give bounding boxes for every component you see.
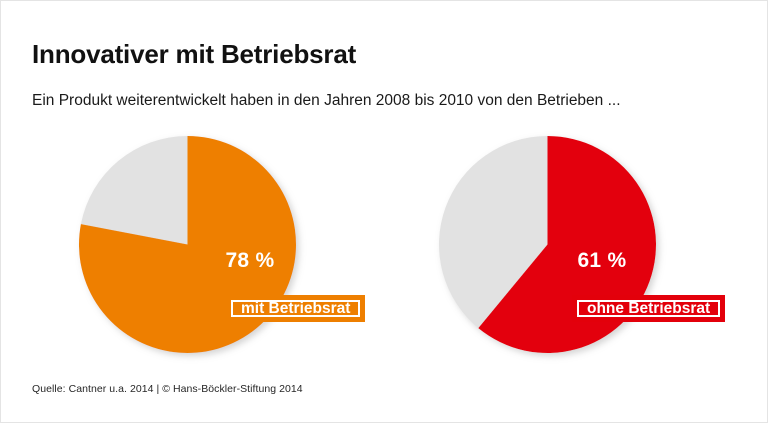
- infographic-canvas: Innovativer mit Betriebsrat Ein Produkt …: [0, 0, 768, 423]
- source-note: Quelle: Cantner u.a. 2014 | © Hans-Böckl…: [32, 383, 303, 395]
- legend-chip-ohne-betriebsrat: ohne Betriebsrat: [572, 295, 725, 322]
- pie-chart-mit-betriebsrat: 78 % mit Betriebsrat: [49, 121, 379, 371]
- legend-chip-mit-betriebsrat: mit Betriebsrat: [226, 295, 365, 322]
- chart-area: 78 % mit Betriebsrat 61 %: [1, 121, 768, 371]
- page-title: Innovativer mit Betriebsrat: [32, 40, 722, 70]
- pie-chart-ohne-betriebsrat: 61 % ohne Betriebsrat: [409, 121, 739, 371]
- page-subtitle: Ein Produkt weiterentwickelt haben in de…: [32, 89, 652, 113]
